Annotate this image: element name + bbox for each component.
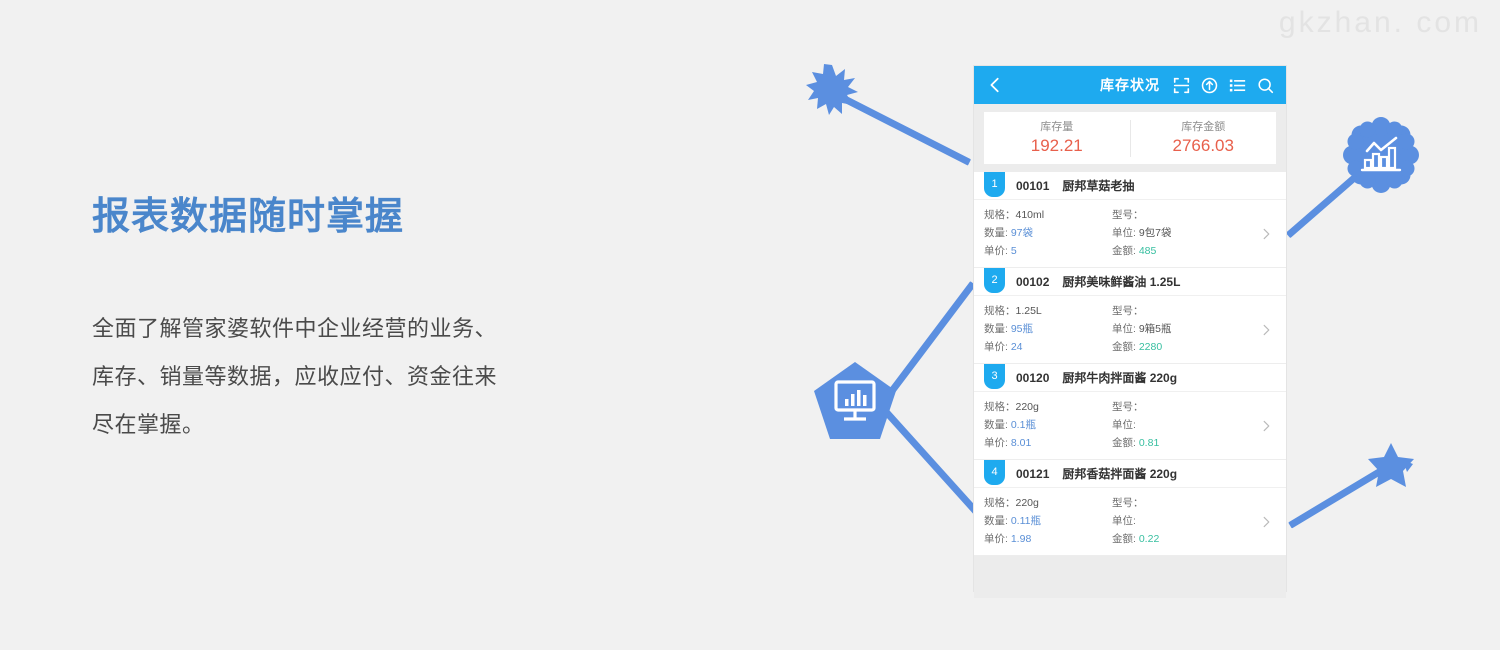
detail-model: 型号： xyxy=(1112,302,1252,320)
detail-value: 0.81 xyxy=(1139,437,1159,449)
scalloped-shape xyxy=(1343,117,1419,193)
starburst-badge xyxy=(806,63,858,120)
detail-value: 8.01 xyxy=(1011,437,1031,449)
detail-value: 95瓶 xyxy=(1011,323,1033,335)
item-details: 规格：220g 数量: 0.11瓶 单价: 1.98 型号： 单位: 金额: 0… xyxy=(974,488,1286,555)
detail-label: 型号： xyxy=(1112,401,1144,413)
detail-value: 97袋 xyxy=(1011,227,1033,239)
app-header: 库存状况 xyxy=(974,66,1286,104)
detail-value: 410ml xyxy=(1016,209,1045,221)
list-item[interactable]: 4 00121 厨邦香菇拌面酱 220g 规格：220g 数量: 0.11瓶 单… xyxy=(974,460,1286,556)
detail-unit: 单位: xyxy=(1112,416,1252,434)
item-name: 厨邦草菇老抽 xyxy=(1062,177,1134,194)
detail-spec: 规格：220g xyxy=(984,398,1112,416)
detail-label: 型号： xyxy=(1112,305,1144,317)
scalloped-chart-badge xyxy=(1343,117,1419,198)
item-header: 3 00120 厨邦牛肉拌面酱 220g xyxy=(974,364,1286,392)
chevron-right-icon[interactable] xyxy=(1261,324,1272,335)
detail-label: 金额: xyxy=(1112,245,1136,257)
detail-amount: 金额: 2280 xyxy=(1112,338,1252,356)
detail-label: 型号： xyxy=(1112,209,1144,221)
detail-value: 220g xyxy=(1016,497,1039,509)
detail-qty: 数量: 0.1瓶 xyxy=(984,416,1112,434)
arrow-up-circle-icon[interactable] xyxy=(1201,77,1218,94)
stat-label: 库存量 xyxy=(984,120,1130,135)
chevron-right-icon[interactable] xyxy=(1261,420,1272,431)
stat-stock-amount: 库存金额 2766.03 xyxy=(1130,120,1277,157)
detail-qty: 数量: 97袋 xyxy=(984,224,1112,242)
detail-label: 规格： xyxy=(984,209,1016,221)
monitor-chart-badge xyxy=(814,362,896,445)
header-icon-group xyxy=(1173,77,1274,94)
phone-footer-area xyxy=(974,556,1286,598)
detail-model: 型号： xyxy=(1112,206,1252,224)
detail-label: 单价: xyxy=(984,341,1008,353)
detail-spec: 规格：410ml xyxy=(984,206,1112,224)
description-line-3: 尽在掌握。 xyxy=(92,401,652,449)
detail-label: 数量: xyxy=(984,419,1008,431)
phone-mockup: 库存状况 xyxy=(974,66,1286,591)
detail-label: 单位: xyxy=(1112,227,1136,239)
detail-label: 单位: xyxy=(1112,419,1136,431)
stat-value: 2766.03 xyxy=(1131,135,1277,157)
item-index-badge: 4 xyxy=(984,460,1005,485)
detail-qty: 数量: 95瓶 xyxy=(984,320,1112,338)
detail-label: 规格： xyxy=(984,497,1016,509)
detail-col-left: 规格：410ml 数量: 97袋 单价: 5 xyxy=(984,206,1112,260)
detail-value: 24 xyxy=(1011,341,1023,353)
detail-col-left: 规格：1.25L 数量: 95瓶 单价: 24 xyxy=(984,302,1112,356)
chevron-right-icon[interactable] xyxy=(1261,228,1272,239)
detail-col-right: 型号： 单位: 9箱5瓶 金额: 2280 xyxy=(1112,302,1252,356)
detail-amount: 金额: 485 xyxy=(1112,242,1252,260)
marketing-copy: 报表数据随时掌握 全面了解管家婆软件中企业经营的业务、 库存、销量等数据，应收应… xyxy=(92,195,652,449)
detail-price: 单价: 8.01 xyxy=(984,434,1112,452)
item-name: 厨邦香菇拌面酱 220g xyxy=(1062,465,1177,482)
list-item[interactable]: 2 00102 厨邦美味鲜酱油 1.25L 规格：1.25L 数量: 95瓶 单… xyxy=(974,268,1286,364)
item-code: 00120 xyxy=(1016,371,1049,385)
list-item[interactable]: 3 00120 厨邦牛肉拌面酱 220g 规格：220g 数量: 0.1瓶 单价… xyxy=(974,364,1286,460)
detail-unit: 单位: 9包7袋 xyxy=(1112,224,1252,242)
star-badge xyxy=(1367,443,1415,494)
detail-label: 规格： xyxy=(984,305,1016,317)
pentagon-shape xyxy=(814,362,896,440)
detail-label: 单价: xyxy=(984,437,1008,449)
detail-col-right: 型号： 单位: 金额: 0.81 xyxy=(1112,398,1252,452)
detail-col-right: 型号： 单位: 金额: 0.22 xyxy=(1112,494,1252,548)
item-code: 00121 xyxy=(1016,467,1049,481)
page-root: gkzhan. com 报表数据随时掌握 全面了解管家婆软件中企业经营的业务、 … xyxy=(0,0,1500,650)
detail-value: 0.1瓶 xyxy=(1011,419,1036,431)
chevron-right-icon[interactable] xyxy=(1261,516,1272,527)
detail-label: 数量: xyxy=(984,227,1008,239)
detail-value: 2280 xyxy=(1139,341,1162,353)
detail-label: 单价: xyxy=(984,245,1008,257)
item-name: 厨邦美味鲜酱油 1.25L xyxy=(1062,273,1180,290)
detail-qty: 数量: 0.11瓶 xyxy=(984,512,1112,530)
stat-stock-qty: 库存量 192.21 xyxy=(984,120,1130,157)
detail-model: 型号： xyxy=(1112,494,1252,512)
detail-value: 220g xyxy=(1016,401,1039,413)
detail-label: 型号： xyxy=(1112,497,1144,509)
chevron-left-icon[interactable] xyxy=(986,76,1004,94)
inventory-list: 1 00101 厨邦草菇老抽 规格：410ml 数量: 97袋 单价: 5 型号… xyxy=(974,172,1286,556)
detail-col-right: 型号： 单位: 9包7袋 金额: 485 xyxy=(1112,206,1252,260)
detail-spec: 规格：220g xyxy=(984,494,1112,512)
star-icon xyxy=(1367,443,1415,489)
item-details: 规格：410ml 数量: 97袋 单价: 5 型号： 单位: 9包7袋 金额: … xyxy=(974,200,1286,267)
detail-value: 0.22 xyxy=(1139,533,1159,545)
item-name: 厨邦牛肉拌面酱 220g xyxy=(1062,369,1177,386)
detail-value: 9箱5瓶 xyxy=(1139,323,1172,335)
detail-label: 数量: xyxy=(984,515,1008,527)
item-index-badge: 2 xyxy=(984,268,1005,293)
item-header: 1 00101 厨邦草菇老抽 xyxy=(974,172,1286,200)
detail-value: 0.11瓶 xyxy=(1011,515,1041,527)
item-index-badge: 1 xyxy=(984,172,1005,197)
item-code: 00102 xyxy=(1016,275,1049,289)
description-line-2: 库存、销量等数据，应收应付、资金往来 xyxy=(92,353,652,401)
detail-model: 型号： xyxy=(1112,398,1252,416)
detail-label: 金额: xyxy=(1112,533,1136,545)
item-index-badge: 3 xyxy=(984,364,1005,389)
detail-price: 单价: 1.98 xyxy=(984,530,1112,548)
detail-label: 单价: xyxy=(984,533,1008,545)
detail-label: 金额: xyxy=(1112,437,1136,449)
detail-value: 9包7袋 xyxy=(1139,227,1172,239)
detail-col-left: 规格：220g 数量: 0.1瓶 单价: 8.01 xyxy=(984,398,1112,452)
connector-line-pentagon-lower xyxy=(881,407,985,522)
detail-unit: 单位: xyxy=(1112,512,1252,530)
item-details: 规格：220g 数量: 0.1瓶 单价: 8.01 型号： 单位: 金额: 0.… xyxy=(974,392,1286,459)
description-text: 全面了解管家婆软件中企业经营的业务、 库存、销量等数据，应收应付、资金往来 尽在… xyxy=(92,305,652,449)
detail-label: 单位: xyxy=(1112,515,1136,527)
list-icon[interactable] xyxy=(1229,77,1246,94)
detail-value: 1.98 xyxy=(1011,533,1031,545)
summary-card: 库存量 192.21 库存金额 2766.03 xyxy=(984,112,1276,164)
detail-price: 单价: 5 xyxy=(984,242,1112,260)
detail-value: 1.25L xyxy=(1016,305,1042,317)
description-line-1: 全面了解管家婆软件中企业经营的业务、 xyxy=(92,305,652,353)
list-item[interactable]: 1 00101 厨邦草菇老抽 规格：410ml 数量: 97袋 单价: 5 型号… xyxy=(974,172,1286,268)
item-details: 规格：1.25L 数量: 95瓶 单价: 24 型号： 单位: 9箱5瓶 金额:… xyxy=(974,296,1286,363)
detail-spec: 规格：1.25L xyxy=(984,302,1112,320)
detail-price: 单价: 24 xyxy=(984,338,1112,356)
stat-label: 库存金额 xyxy=(1131,120,1277,135)
detail-label: 金额: xyxy=(1112,341,1136,353)
detail-value: 5 xyxy=(1011,245,1017,257)
detail-label: 规格： xyxy=(984,401,1016,413)
summary-section: 库存量 192.21 库存金额 2766.03 xyxy=(974,104,1286,164)
starburst-icon xyxy=(806,63,858,115)
stat-value: 192.21 xyxy=(984,135,1130,157)
page-title: 报表数据随时掌握 xyxy=(92,195,652,241)
detail-col-left: 规格：220g 数量: 0.11瓶 单价: 1.98 xyxy=(984,494,1112,548)
detail-label: 数量: xyxy=(984,323,1008,335)
item-header: 4 00121 厨邦香菇拌面酱 220g xyxy=(974,460,1286,488)
item-header: 2 00102 厨邦美味鲜酱油 1.25L xyxy=(974,268,1286,296)
detail-unit: 单位: 9箱5瓶 xyxy=(1112,320,1252,338)
detail-amount: 金额: 0.81 xyxy=(1112,434,1252,452)
detail-amount: 金额: 0.22 xyxy=(1112,530,1252,548)
scan-icon[interactable] xyxy=(1173,77,1190,94)
search-icon[interactable] xyxy=(1257,77,1274,94)
item-code: 00101 xyxy=(1016,179,1049,193)
detail-label: 单位: xyxy=(1112,323,1136,335)
detail-value: 485 xyxy=(1139,245,1157,257)
site-watermark: gkzhan. com xyxy=(1279,6,1482,40)
